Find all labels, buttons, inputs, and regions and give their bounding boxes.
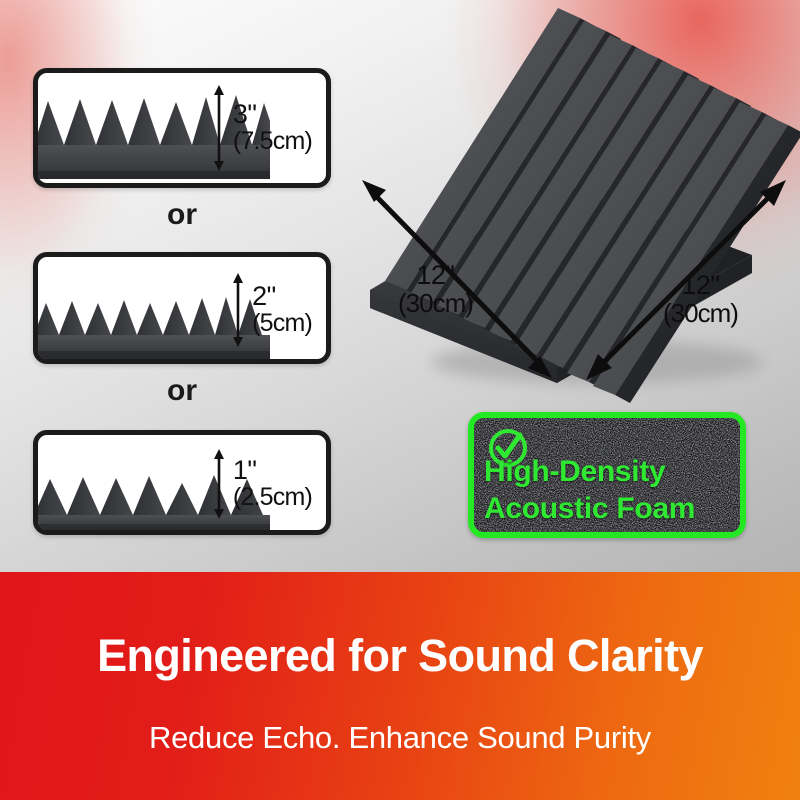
dimension-inches: 12" <box>398 262 473 290</box>
thickness-label: 3" (7.5cm) <box>233 101 312 154</box>
vertical-double-arrow-icon <box>212 85 226 171</box>
thickness-label: 2" (5cm) <box>252 283 312 336</box>
thickness-option-card: 3" (7.5cm) <box>33 68 331 188</box>
thickness-inches: 3" <box>233 101 312 129</box>
thickness-option-card: 2" (5cm) <box>33 252 331 364</box>
badge-text: High-Density Acoustic Foam <box>484 454 742 527</box>
vertical-double-arrow-icon <box>212 449 226 519</box>
vertical-double-arrow-icon <box>231 273 245 347</box>
thickness-metric: (5cm) <box>252 311 312 337</box>
banner-subtitle: Reduce Echo. Enhance Sound Purity <box>0 720 800 756</box>
high-density-badge: High-Density Acoustic Foam <box>468 412 746 538</box>
panel-dimension-left: 12" (30cm) <box>398 262 473 316</box>
thickness-dimension: 3" (7.5cm) <box>212 85 312 171</box>
product-infographic: 12" (30cm) 12" (30cm) <box>0 0 800 800</box>
thickness-inches: 2" <box>252 283 312 311</box>
separator-or: or <box>33 198 331 232</box>
thickness-dimension: 2" (5cm) <box>231 273 312 347</box>
thickness-dimension: 1" (2.5cm) <box>212 449 312 519</box>
panel-dimension-right: 12" (30cm) <box>663 272 738 326</box>
product-scene: 12" (30cm) 12" (30cm) <box>0 0 800 572</box>
thickness-metric: (7.5cm) <box>233 129 312 155</box>
dimension-inches: 12" <box>663 272 738 300</box>
thickness-option-card: 1" (2.5cm) <box>33 430 331 535</box>
marketing-banner: Engineered for Sound Clarity Reduce Echo… <box>0 572 800 800</box>
dimension-metric: (30cm) <box>663 300 738 327</box>
banner-headline: Engineered for Sound Clarity <box>0 630 800 682</box>
thickness-label: 1" (2.5cm) <box>233 457 312 510</box>
thickness-metric: (2.5cm) <box>233 485 312 511</box>
thickness-inches: 1" <box>233 457 312 485</box>
badge-line-2: Acoustic Foam <box>484 491 742 528</box>
separator-or: or <box>33 374 331 408</box>
badge-line-1: High-Density <box>484 454 742 491</box>
dimension-metric: (30cm) <box>398 290 473 317</box>
